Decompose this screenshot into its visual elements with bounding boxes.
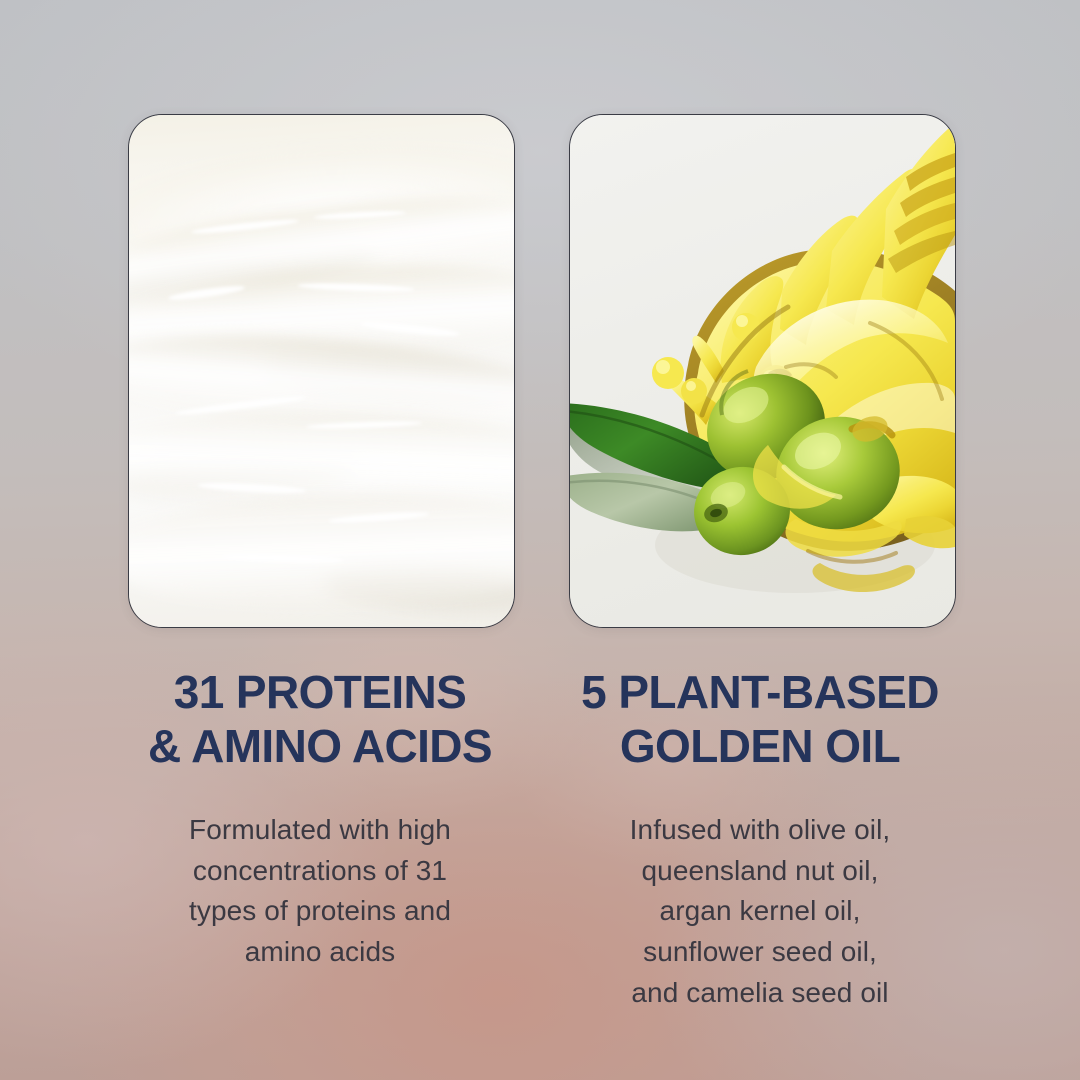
cream-texture-surface: [129, 115, 514, 627]
feature-description-proteins: Formulated with high concentrations of 3…: [120, 810, 520, 974]
feature-text-golden-oil: 5 PLANT-BASED GOLDEN OIL Infused with ol…: [560, 666, 960, 1014]
cream-stroke: [128, 486, 515, 615]
oil-splash-surface: [570, 115, 955, 627]
feature-headline-proteins: 31 PROTEINS & AMINO ACIDS: [120, 666, 520, 774]
cream-texture-photo: [128, 114, 515, 628]
olive-oil-splash-photo: [569, 114, 956, 628]
product-feature-infographic: 31 PROTEINS & AMINO ACIDS Formulated wit…: [0, 0, 1080, 1080]
feature-description-golden-oil: Infused with olive oil, queensland nut o…: [560, 810, 960, 1014]
feature-text-proteins: 31 PROTEINS & AMINO ACIDS Formulated wit…: [120, 666, 520, 973]
feature-headline-golden-oil: 5 PLANT-BASED GOLDEN OIL: [560, 666, 960, 774]
